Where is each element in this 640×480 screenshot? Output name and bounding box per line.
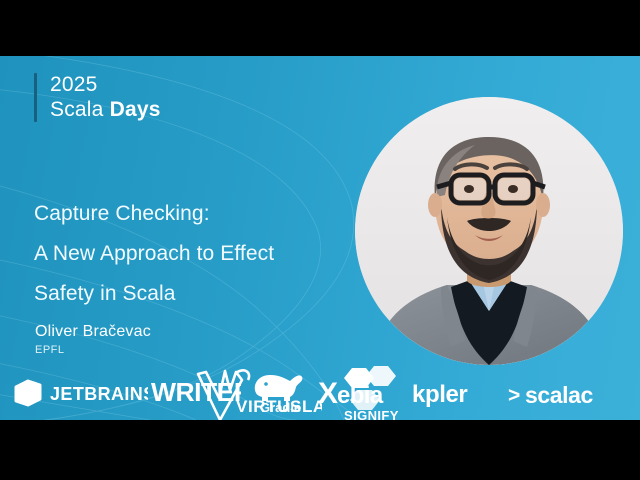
speaker-portrait (355, 97, 623, 365)
gradle-elephant-icon (255, 375, 303, 401)
xebia-x-icon: X (318, 378, 338, 408)
sponsor-logo-gradle: Gradle (246, 367, 310, 418)
speaker-affiliation: EPFL (35, 343, 151, 358)
brand-year: 2025 (50, 73, 161, 97)
talk-title-line-2: A New Approach to Effect (34, 234, 364, 274)
gradle-wordmark: Gradle (260, 400, 301, 413)
writer-wordmark: WRITER (151, 378, 241, 406)
jetbrains-wordmark: JETBRAINS (50, 384, 148, 404)
brand-name-bold: Days (110, 98, 161, 121)
kpler-wordmark: kpler (412, 381, 467, 407)
talk-title-line-3: Safety in Scala (34, 274, 364, 314)
xebia-wordmark: ebia (337, 382, 384, 408)
talk-title: Capture Checking: A New Approach to Effe… (34, 194, 364, 314)
letterbox-top (0, 0, 640, 56)
slide-stage: 2025 Scala Days Capture Checking: A New … (0, 56, 640, 420)
sponsor-logo-writer: WRITER (151, 378, 241, 411)
brand-accent-rule (34, 73, 37, 122)
sponsor-logo-xebia: X ebia (318, 378, 402, 413)
scalac-wordmark: scalac (525, 382, 594, 408)
talk-title-line-1: Capture Checking: (34, 194, 364, 234)
scalac-chevron-icon: > (508, 384, 520, 407)
sponsor-logo-jetbrains: JETBRAINS (8, 377, 148, 414)
speaker-name: Oliver Bračevac (35, 322, 151, 342)
letterbox-bottom (0, 420, 640, 480)
brand-lockup: 2025 Scala Days (34, 73, 161, 122)
sponsor-row: JETBRAINS WRITER Gradle (0, 369, 640, 420)
sponsor-logo-kpler: kpler (412, 379, 490, 412)
brand-text: 2025 Scala Days (50, 73, 161, 122)
brand-name-light: Scala (50, 98, 110, 121)
brand-name: Scala Days (50, 97, 161, 122)
conference-talk-slide: 2025 Scala Days Capture Checking: A New … (0, 0, 640, 480)
sponsor-logo-scalac: > scalac (508, 380, 604, 413)
jetbrains-cube-icon (16, 381, 40, 405)
speaker-block: Oliver Bračevac EPFL (35, 322, 151, 358)
